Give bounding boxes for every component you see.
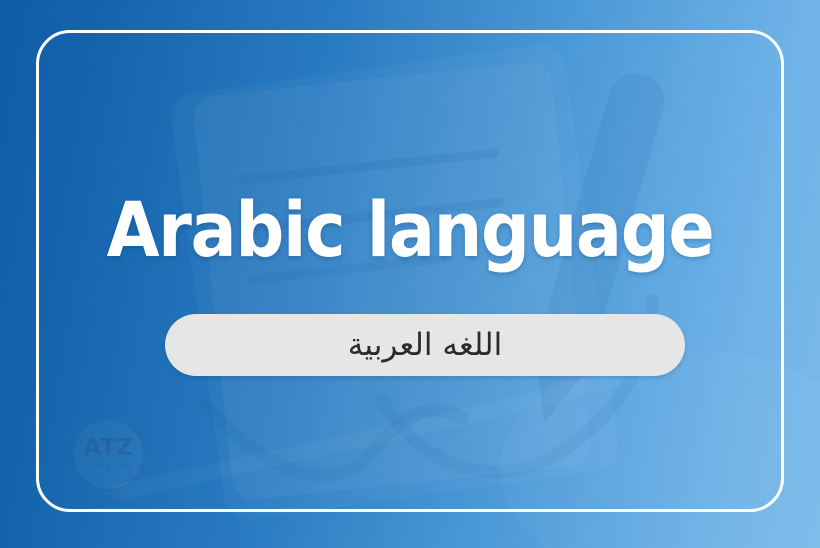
logo-secondary-text: Classes: [86, 460, 133, 472]
course-banner: Arabic language اللغه العربية ATZ Classe…: [0, 0, 820, 548]
page-title: Arabic language: [41, 182, 779, 278]
logo-primary-text: ATZ: [84, 437, 134, 460]
arabic-subtitle-pill: اللغه العربية: [165, 314, 685, 376]
atz-classes-logo: ATZ Classes: [71, 417, 146, 492]
arabic-subtitle-text: اللغه العربية: [348, 325, 502, 365]
